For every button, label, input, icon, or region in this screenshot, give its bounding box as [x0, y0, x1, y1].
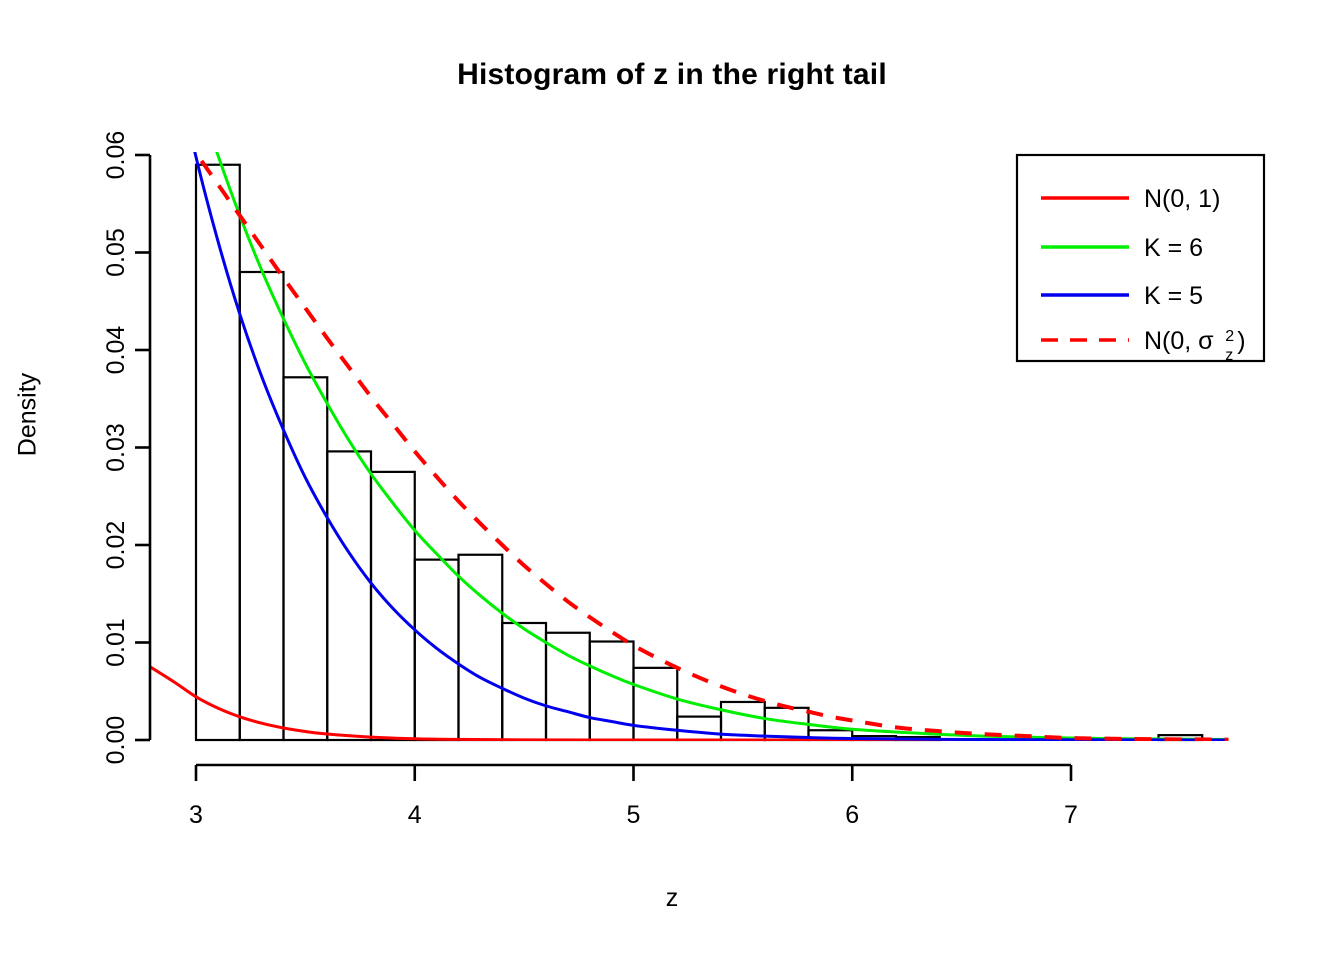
legend-superscript: 2 — [1225, 328, 1234, 345]
table-row — [371, 472, 415, 740]
table-row — [240, 272, 284, 740]
y-axis-tick-label: 0.00 — [102, 716, 130, 765]
x-axis-tick-label: 7 — [1064, 801, 1078, 829]
legend-subscript: z — [1225, 347, 1233, 364]
y-axis-tick-label: 0.04 — [102, 326, 130, 375]
x-axis-tick-label: 4 — [408, 801, 422, 829]
table-row — [327, 451, 371, 740]
density-curves — [148, 0, 1229, 740]
plot-canvas: 0.000.010.020.030.040.050.0634567 N(0, 1… — [0, 0, 1344, 960]
y-axis-tick-label: 0.05 — [102, 228, 130, 277]
table-row — [502, 623, 546, 740]
density-curve — [148, 0, 1229, 740]
legend-item-label[interactable]: K = 5 — [1144, 282, 1203, 310]
table-row — [196, 165, 240, 740]
legend[interactable]: N(0, 1)K = 6K = 5N(0, σ2z) — [1017, 155, 1264, 364]
y-axis-tick-label: 0.03 — [102, 423, 130, 472]
legend-item-tail: ) — [1237, 327, 1245, 355]
chart-root: Histogram of z in the right tail Density… — [0, 0, 1344, 960]
legend-item-label[interactable]: N(0, σ — [1144, 327, 1214, 355]
x-axis-tick-label: 6 — [845, 801, 859, 829]
x-axis-tick-label: 5 — [627, 801, 641, 829]
x-axis-tick-label: 3 — [189, 801, 203, 829]
legend-item-label[interactable]: K = 6 — [1144, 234, 1203, 262]
table-row — [546, 633, 590, 740]
legend-item-label[interactable]: N(0, 1) — [1144, 185, 1220, 213]
y-axis-tick-label: 0.02 — [102, 521, 130, 570]
table-row — [677, 717, 721, 740]
histogram-plot: 0.000.010.020.030.040.050.0634567 N(0, 1… — [0, 0, 1344, 960]
y-axis-tick-label: 0.01 — [102, 618, 130, 667]
y-axis-tick-label: 0.06 — [102, 131, 130, 180]
table-row — [284, 377, 328, 740]
